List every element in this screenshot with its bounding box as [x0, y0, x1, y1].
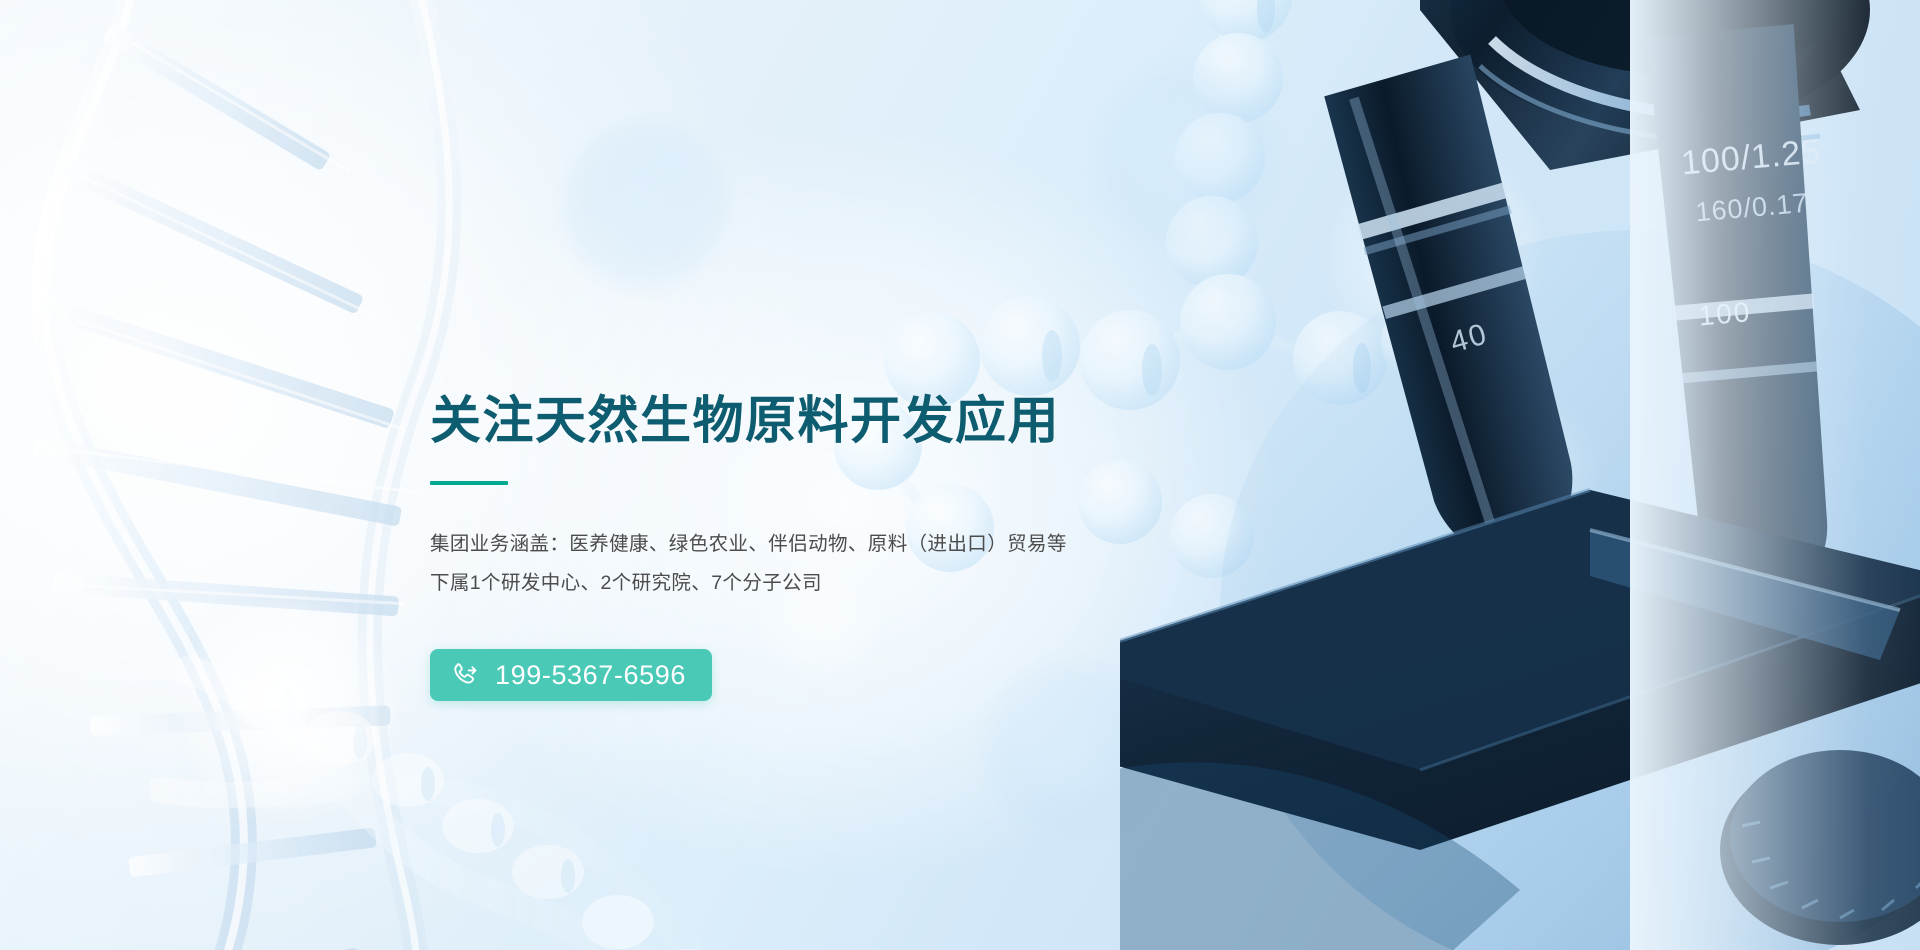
bokeh-orb: [560, 120, 730, 290]
hero-banner: 40 100/1.25 160/0.17 100: [0, 0, 1920, 950]
phone-forward-icon: [452, 661, 480, 689]
bokeh-orb: [180, 600, 400, 820]
phone-cta-button[interactable]: 199-5367-6596: [430, 649, 712, 701]
hero-content: 关注天然生物原料开发应用 集团业务涵盖：医养健康、绿色农业、伴侣动物、原料（进出…: [430, 392, 1250, 701]
page-title: 关注天然生物原料开发应用: [430, 392, 1250, 449]
description-line-2: 下属1个研发中心、2个研究院、7个分子公司: [430, 564, 1250, 603]
title-divider: [430, 481, 508, 485]
bokeh-orb: [1330, 150, 1540, 360]
svg-text:100/1.25: 100/1.25: [1680, 132, 1823, 182]
microscope-edge-fade: [1630, 0, 1920, 950]
phone-number-label: 199-5367-6596: [495, 662, 686, 689]
hero-description: 集团业务涵盖：医养健康、绿色农业、伴侣动物、原料（进出口）贸易等 下属1个研发中…: [430, 525, 1250, 603]
description-line-1: 集团业务涵盖：医养健康、绿色农业、伴侣动物、原料（进出口）贸易等: [430, 525, 1250, 564]
bokeh-orb: [1460, 400, 1600, 540]
svg-text:100: 100: [1697, 296, 1752, 331]
bokeh-orb: [60, 300, 210, 450]
svg-text:40: 40: [1447, 317, 1492, 359]
bokeh-orb: [1090, 60, 1280, 250]
svg-text:160/0.17: 160/0.17: [1694, 188, 1809, 228]
